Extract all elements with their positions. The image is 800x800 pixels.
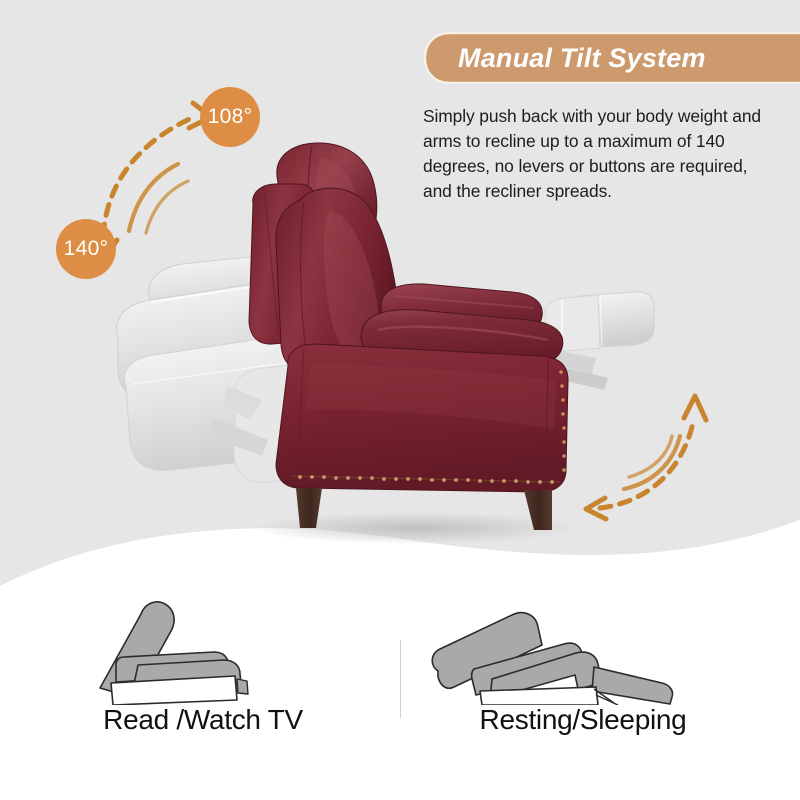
gray-background-panel — [0, 0, 800, 620]
hero-section — [0, 0, 800, 620]
feature-resting-sleeping: Resting/Sleeping — [418, 600, 748, 800]
angle-badge-140: 140° — [56, 219, 116, 279]
feature-read-watch-tv: Read /Watch TV — [38, 600, 368, 800]
angle-badge-108: 108° — [200, 87, 260, 147]
description-text: Simply push back with your body weight a… — [423, 104, 775, 204]
chair-reclined-icon — [418, 595, 748, 705]
page-title: Manual Tilt System — [458, 32, 800, 84]
feature-label-read-watch-tv: Read /Watch TV — [38, 704, 368, 736]
infographic-canvas: Manual Tilt System Simply push back with… — [0, 0, 800, 800]
feature-label-resting-sleeping: Resting/Sleeping — [418, 704, 748, 736]
title-banner: Manual Tilt System — [424, 32, 800, 84]
feature-divider — [400, 640, 401, 718]
chair-upright-icon — [38, 595, 368, 705]
